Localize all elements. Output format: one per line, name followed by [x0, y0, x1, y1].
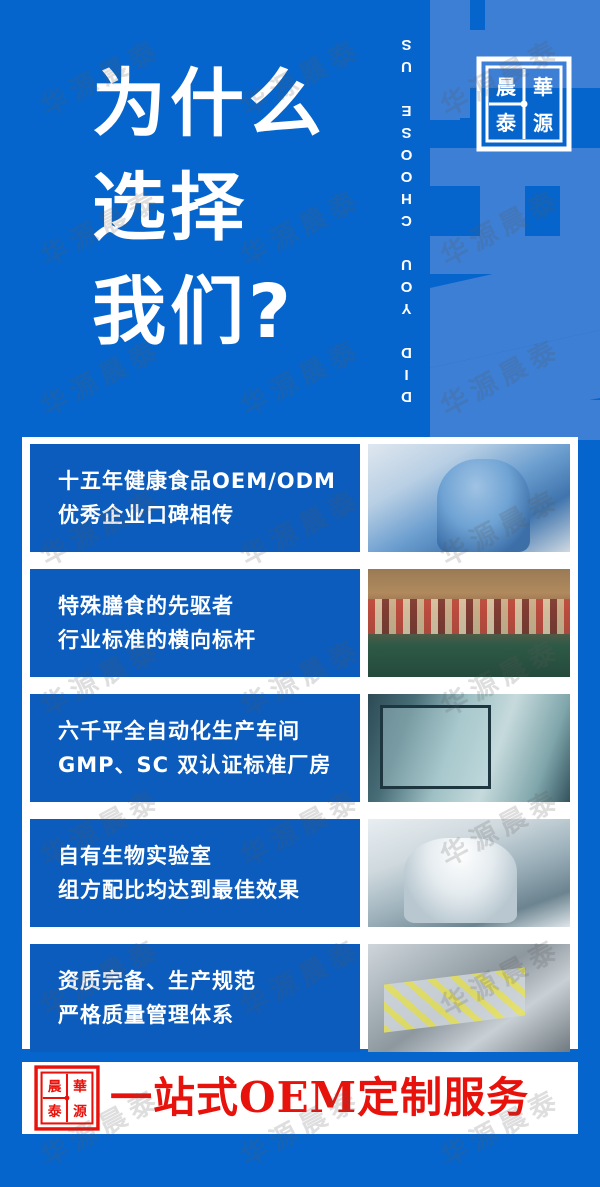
feature-card-image [368, 444, 570, 552]
feature-card-text: 资质完备、生产规范 严格质量管理体系 [30, 944, 360, 1052]
feature-card[interactable]: 特殊膳食的先驱者 行业标准的横向标杆 [30, 569, 570, 677]
feature-card-text: 自有生物实验室 组方配比均达到最佳效果 [30, 819, 360, 927]
feature-card-image [368, 944, 570, 1052]
bottom-cta-text: 一站式OEM定制服务 [110, 1077, 529, 1119]
feature-card-image [368, 819, 570, 927]
feature-card-line-1: 自有生物实验室 [58, 839, 360, 873]
title-line-3: 我们? [92, 260, 392, 364]
bottom-cta-banner[interactable]: 晨 華 泰 源 一站式OEM定制服务 [22, 1062, 578, 1134]
svg-text:源: 源 [73, 1103, 87, 1120]
page-title: 为什么 选择 我们? [92, 52, 392, 364]
company-seal-white-icon: 晨 華 泰 源 [476, 56, 572, 152]
feature-card-text: 特殊膳食的先驱者 行业标准的横向标杆 [30, 569, 360, 677]
feature-card-line-2: GMP、SC 双认证标准厂房 [58, 748, 360, 782]
feature-card-line-1: 特殊膳食的先驱者 [58, 589, 360, 623]
svg-text:華: 華 [533, 75, 553, 99]
feature-card-list: 十五年健康食品OEM/ODM 优秀企业口碑相传 特殊膳食的先驱者 行业标准的横向… [30, 444, 570, 1052]
feature-card-line-2: 严格质量管理体系 [58, 998, 360, 1032]
title-line-1: 为什么 [92, 52, 392, 156]
vertical-english-subtitle: DID YOU CHOOSE US [398, 18, 432, 418]
feature-card-line-2: 行业标准的横向标杆 [58, 623, 360, 657]
feature-card-line-1: 资质完备、生产规范 [58, 964, 360, 998]
feature-card-line-2: 优秀企业口碑相传 [58, 498, 360, 532]
svg-text:泰: 泰 [47, 1103, 62, 1120]
feature-card-image [368, 694, 570, 802]
svg-text:華: 華 [73, 1078, 87, 1095]
feature-card-text: 十五年健康食品OEM/ODM 优秀企业口碑相传 [30, 444, 360, 552]
company-seal-red-icon: 晨 華 泰 源 [34, 1065, 100, 1131]
feature-card-line-2: 组方配比均达到最佳效果 [58, 873, 360, 907]
feature-card[interactable]: 六千平全自动化生产车间 GMP、SC 双认证标准厂房 [30, 694, 570, 802]
feature-card-image [368, 569, 570, 677]
feature-card[interactable]: 资质完备、生产规范 严格质量管理体系 [30, 944, 570, 1052]
feature-card[interactable]: 十五年健康食品OEM/ODM 优秀企业口碑相传 [30, 444, 570, 552]
svg-text:晨: 晨 [496, 75, 517, 99]
poster-root: 为什么 选择 我们? DID YOU CHOOSE US 晨 華 泰 源 [0, 0, 600, 1187]
title-line-2: 选择 [92, 156, 392, 260]
feature-card[interactable]: 自有生物实验室 组方配比均达到最佳效果 [30, 819, 570, 927]
feature-card-line-1: 十五年健康食品OEM/ODM [58, 464, 360, 498]
header-section: 为什么 选择 我们? DID YOU CHOOSE US 晨 華 泰 源 [0, 0, 600, 437]
feature-card-text: 六千平全自动化生产车间 GMP、SC 双认证标准厂房 [30, 694, 360, 802]
feature-card-line-1: 六千平全自动化生产车间 [58, 714, 360, 748]
svg-text:源: 源 [533, 111, 553, 135]
svg-text:泰: 泰 [495, 111, 517, 135]
svg-text:晨: 晨 [48, 1079, 62, 1095]
